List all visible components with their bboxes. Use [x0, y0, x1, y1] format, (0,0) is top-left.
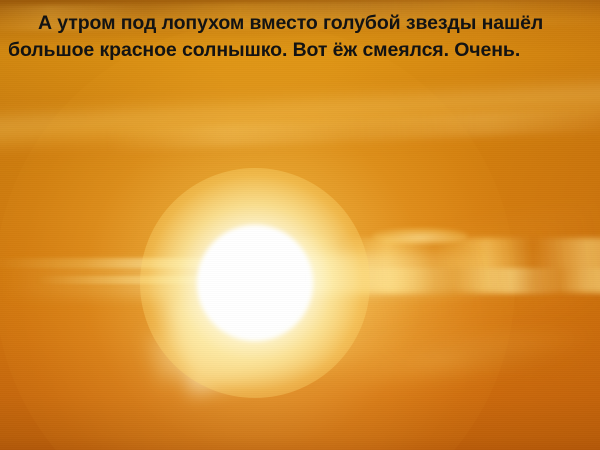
cloud-deck-right-lower: [336, 268, 600, 294]
sun-core: [197, 225, 313, 341]
sky-left-shadow: [0, 0, 600, 450]
cloud-streak-left-upper: [0, 258, 264, 268]
sky-base-gradient: [0, 0, 600, 450]
cloud-streak-left-lower: [36, 276, 288, 284]
cloud-swirl-lower-right: [305, 276, 600, 443]
sun-inner-glow: [140, 168, 370, 398]
slide-canvas: А утром под лопухом вместо голубой звезд…: [0, 0, 600, 450]
sun-flare-wing-right: [294, 254, 558, 294]
cloud-band-upper: [0, 72, 600, 169]
sun-ray-sweep-secondary: [150, 241, 497, 381]
cloud-streak-upper: [108, 107, 600, 152]
caption-text: А утром под лопухом вместо голубой звезд…: [0, 0, 600, 63]
sun-flare-wing-left: [0, 262, 276, 298]
cloud-streak-left-shadow: [180, 268, 300, 282]
sun-outer-glow: [0, 23, 515, 450]
sky-right-shadow: [0, 0, 600, 450]
cloud-deck-right: [264, 238, 600, 292]
cloud-puff-right: [372, 228, 468, 244]
photo-grain-overlay: [0, 0, 600, 450]
cloud-swirl-shadow-lower-right: [357, 307, 600, 408]
sun-ray-sweep: [169, 204, 600, 395]
